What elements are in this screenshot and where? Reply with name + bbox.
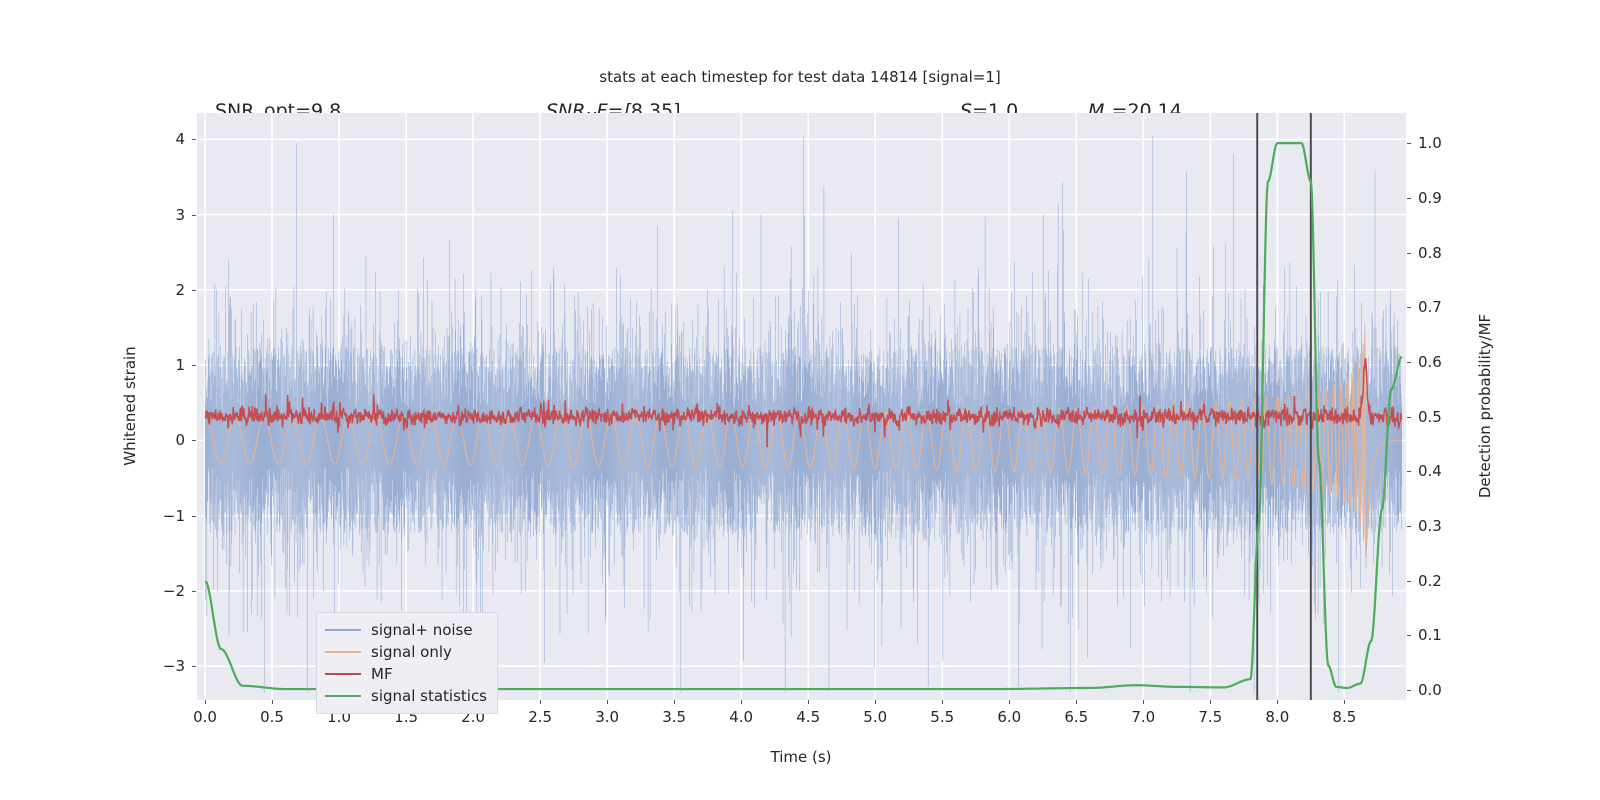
y-tick-mark-left bbox=[192, 440, 196, 441]
figure-canvas: stats at each timestep for test data 148… bbox=[0, 0, 1600, 800]
y-tick-label-left: 3 bbox=[149, 206, 185, 224]
x-tick-label: 8.0 bbox=[1265, 708, 1289, 726]
legend-label: MF bbox=[371, 665, 393, 683]
x-tick-mark bbox=[272, 700, 273, 704]
x-tick-mark bbox=[674, 700, 675, 704]
y-tick-label-left: 4 bbox=[149, 130, 185, 148]
legend-item-0[interactable]: signal+ noise bbox=[325, 619, 487, 641]
x-tick-label: 7.0 bbox=[1131, 708, 1155, 726]
x-tick-mark bbox=[942, 700, 943, 704]
y-tick-label-right: 0.0 bbox=[1418, 681, 1442, 699]
x-tick-label: 0.5 bbox=[260, 708, 284, 726]
y-tick-mark-right bbox=[1407, 253, 1411, 254]
x-tick-mark bbox=[205, 700, 206, 704]
legend-label: signal only bbox=[371, 643, 452, 661]
legend-swatch-icon bbox=[325, 695, 361, 697]
y-tick-label-right: 1.0 bbox=[1418, 134, 1442, 152]
y-tick-label-left: 0 bbox=[149, 431, 185, 449]
y-tick-mark-right bbox=[1407, 581, 1411, 582]
y-tick-label-right: 0.9 bbox=[1418, 189, 1442, 207]
y-tick-label-right: 0.5 bbox=[1418, 408, 1442, 426]
legend[interactable]: signal+ noise signal only MF signal stat… bbox=[316, 612, 498, 714]
legend-item-2[interactable]: MF bbox=[325, 663, 487, 685]
x-tick-mark bbox=[540, 700, 541, 704]
y-tick-mark-left bbox=[192, 290, 196, 291]
x-tick-mark bbox=[1344, 700, 1345, 704]
legend-swatch-icon bbox=[325, 629, 361, 631]
x-tick-label: 8.5 bbox=[1332, 708, 1356, 726]
x-tick-mark bbox=[1210, 700, 1211, 704]
x-tick-mark bbox=[1009, 700, 1010, 704]
x-tick-label: 3.5 bbox=[662, 708, 686, 726]
y-tick-mark-left bbox=[192, 516, 196, 517]
y-tick-label-right: 0.7 bbox=[1418, 298, 1442, 316]
legend-item-3[interactable]: signal statistics bbox=[325, 685, 487, 707]
y-tick-label-left: −2 bbox=[149, 582, 185, 600]
legend-item-1[interactable]: signal only bbox=[325, 641, 487, 663]
x-tick-label: 6.5 bbox=[1064, 708, 1088, 726]
y-tick-mark-right bbox=[1407, 198, 1411, 199]
x-tick-label: 4.5 bbox=[796, 708, 820, 726]
y-tick-label-right: 0.8 bbox=[1418, 244, 1442, 262]
y-tick-mark-right bbox=[1407, 143, 1411, 144]
y-tick-label-left: −3 bbox=[149, 657, 185, 675]
x-tick-label: 5.5 bbox=[930, 708, 954, 726]
x-tick-label: 7.5 bbox=[1198, 708, 1222, 726]
legend-swatch-icon bbox=[325, 673, 361, 675]
y-tick-mark-left bbox=[192, 365, 196, 366]
x-tick-mark bbox=[1076, 700, 1077, 704]
x-tick-mark bbox=[875, 700, 876, 704]
y-tick-mark-right bbox=[1407, 690, 1411, 691]
page-title: stats at each timestep for test data 148… bbox=[0, 68, 1600, 86]
y-tick-label-right: 0.2 bbox=[1418, 572, 1442, 590]
x-tick-mark bbox=[607, 700, 608, 704]
y-tick-mark-left bbox=[192, 139, 196, 140]
y-tick-mark-left bbox=[192, 666, 196, 667]
y-axis-label-left: Whitened strain bbox=[121, 346, 139, 465]
x-tick-label: 0.0 bbox=[193, 708, 217, 726]
y-tick-label-right: 0.6 bbox=[1418, 353, 1442, 371]
y-tick-label-left: −1 bbox=[149, 507, 185, 525]
y-tick-mark-left bbox=[192, 591, 196, 592]
legend-label: signal statistics bbox=[371, 687, 487, 705]
y-tick-mark-right bbox=[1407, 362, 1411, 363]
x-tick-mark bbox=[1143, 700, 1144, 704]
x-tick-mark bbox=[808, 700, 809, 704]
y-tick-mark-right bbox=[1407, 635, 1411, 636]
x-tick-label: 5.0 bbox=[863, 708, 887, 726]
x-tick-label: 2.5 bbox=[528, 708, 552, 726]
y-tick-mark-left bbox=[192, 215, 196, 216]
y-tick-label-right: 0.1 bbox=[1418, 626, 1442, 644]
y-tick-label-left: 1 bbox=[149, 356, 185, 374]
y-tick-mark-right bbox=[1407, 417, 1411, 418]
x-tick-mark bbox=[1277, 700, 1278, 704]
x-tick-label: 6.0 bbox=[997, 708, 1021, 726]
x-tick-label: 4.0 bbox=[729, 708, 753, 726]
y-tick-label-right: 0.3 bbox=[1418, 517, 1442, 535]
legend-label: signal+ noise bbox=[371, 621, 473, 639]
y-tick-mark-right bbox=[1407, 307, 1411, 308]
x-tick-label: 3.0 bbox=[595, 708, 619, 726]
x-axis-label: Time (s) bbox=[771, 748, 832, 766]
y-tick-label-right: 0.4 bbox=[1418, 462, 1442, 480]
y-axis-label-right: Detection probability/MF bbox=[1476, 314, 1494, 498]
y-tick-label-left: 2 bbox=[149, 281, 185, 299]
legend-swatch-icon bbox=[325, 651, 361, 653]
y-tick-mark-right bbox=[1407, 471, 1411, 472]
x-tick-mark bbox=[741, 700, 742, 704]
y-tick-mark-right bbox=[1407, 526, 1411, 527]
